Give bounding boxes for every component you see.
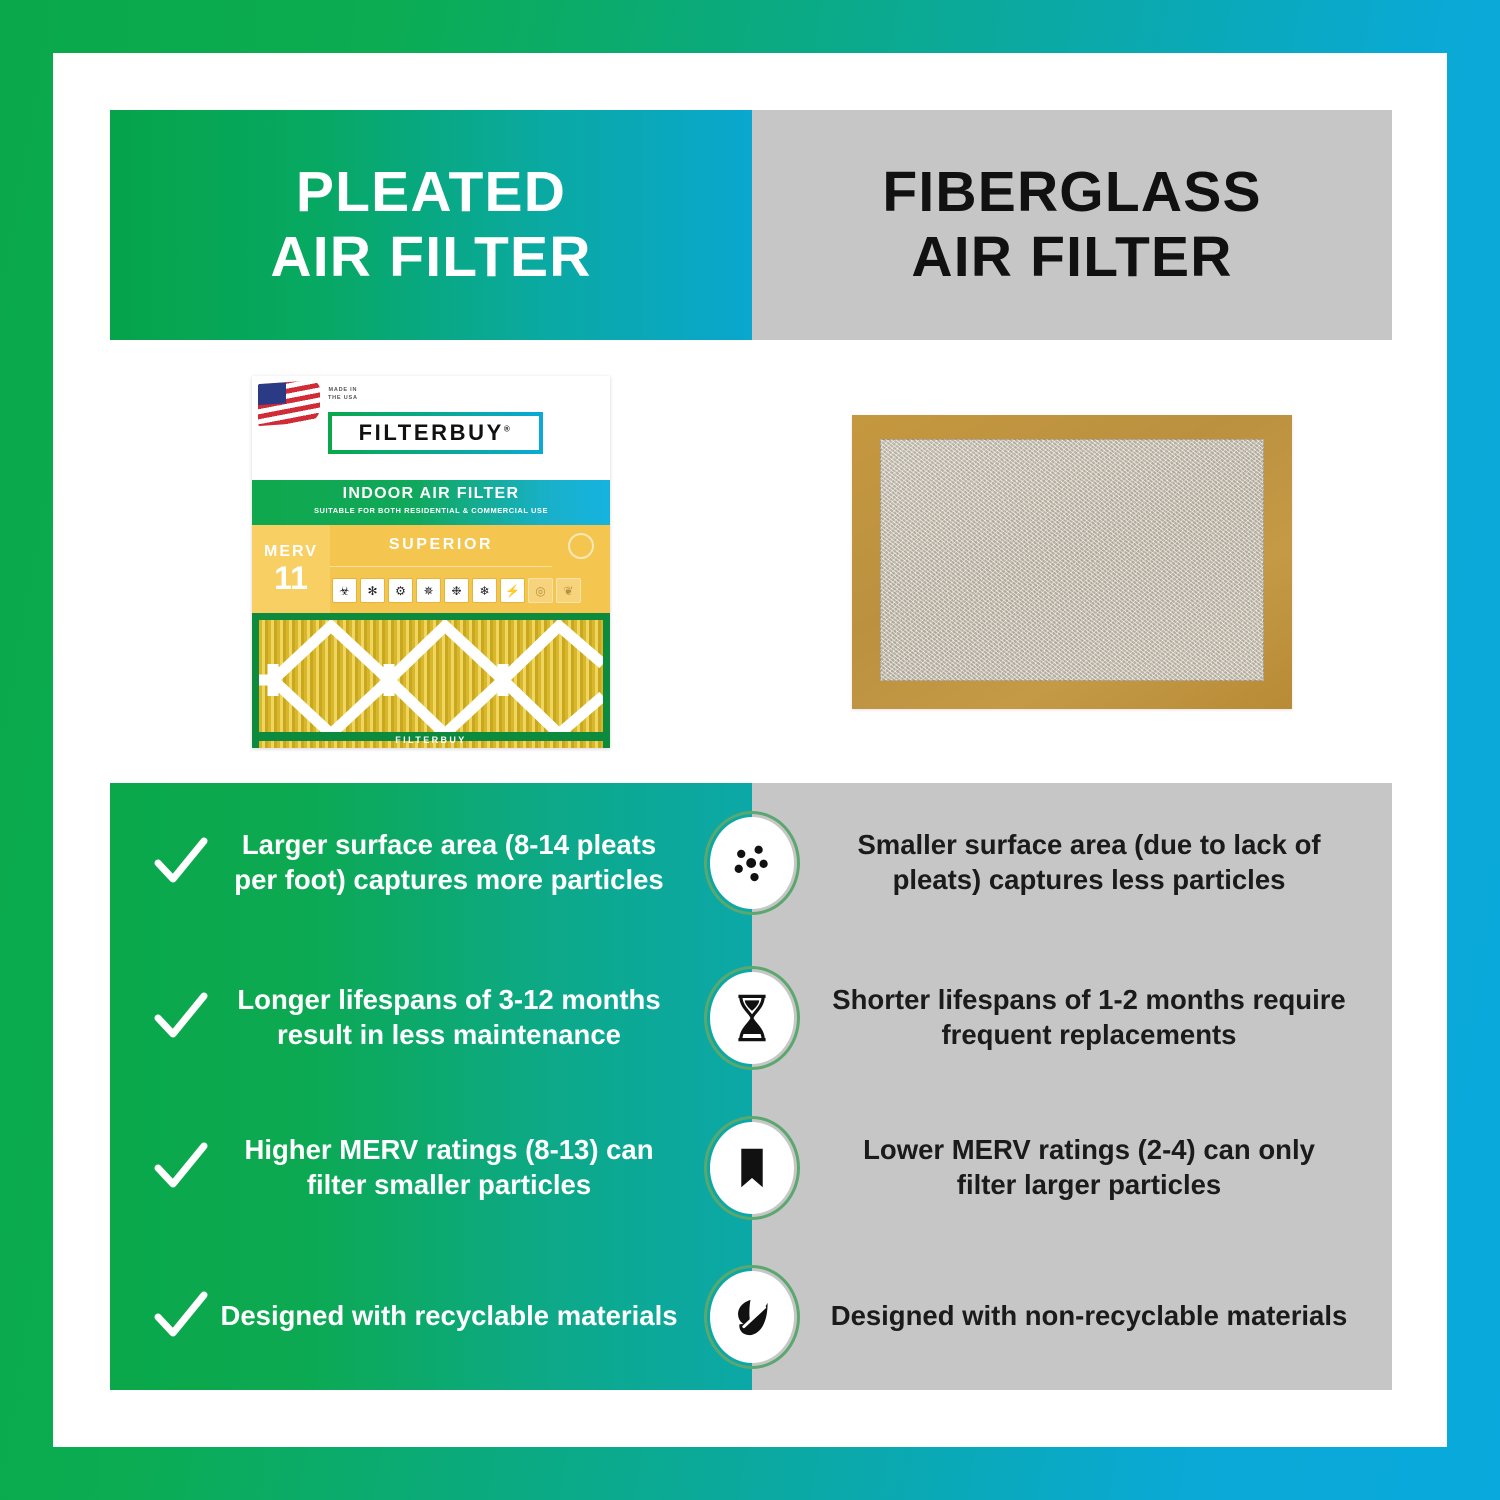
row-2-right-text: Shorter lifespans of 1-2 months require … <box>752 983 1392 1052</box>
comparison-row: Higher MERV ratings (8-13) can filter sm… <box>110 1093 1392 1243</box>
infographic-canvas: PLEATED AIR FILTER FIBERGLASS AIR FILTER… <box>110 110 1392 1390</box>
pleat-field: FILTERBUY <box>259 620 603 748</box>
hourglass-icon <box>710 972 794 1064</box>
check-icon <box>148 1285 212 1349</box>
check-icon <box>148 831 212 895</box>
row-3-right-text: Lower MERV ratings (2-4) can only filter… <box>752 1133 1392 1202</box>
row-1-left: Larger surface area (8-14 pleats per foo… <box>110 828 752 897</box>
filterbuy-logo-text: FILTERBUY® <box>359 420 513 446</box>
banner-line2: SUITABLE FOR BOTH RESIDENTIAL & COMMERCI… <box>252 506 610 515</box>
comparison-row: Longer lifespans of 3-12 months result i… <box>110 943 1392 1093</box>
header-fiberglass-line2: AIR FILTER <box>882 225 1261 290</box>
header-pleated-title: PLEATED AIR FILTER <box>270 160 591 290</box>
fiberglass-media <box>880 439 1264 681</box>
header-fiberglass: FIBERGLASS AIR FILTER <box>752 110 1392 340</box>
leaf-glyph-icon <box>726 1291 778 1343</box>
bookmark-glyph-icon <box>727 1143 777 1193</box>
fiberglass-filter-product-image <box>852 415 1292 709</box>
merv-value: 11 <box>274 563 308 593</box>
row-2-left-text: Longer lifespans of 3-12 months result i… <box>218 983 680 1052</box>
row-1-icon-wrap <box>704 811 800 915</box>
row-4-right-text: Designed with non-recyclable materials <box>752 1299 1392 1334</box>
seal-circle-icon <box>568 533 594 559</box>
capability-tile-smoke-icon: ⚡ <box>500 578 525 603</box>
support-wire-mesh-icon <box>259 620 603 741</box>
capability-tile-row: ☣ ✻ ⚙ ✵ ❉ ❄ ⚡ ◎ ❦ <box>332 571 604 611</box>
row-3-left-text: Higher MERV ratings (8-13) can filter sm… <box>218 1133 680 1202</box>
pleated-footer-brand: FILTERBUY <box>259 735 603 745</box>
pleated-product-cell: MADE IN THE USA FILTERBUY® INDOOR AIR FI… <box>110 340 752 783</box>
banner-line1: INDOOR AIR FILTER <box>252 485 610 503</box>
comparison-row: Designed with recyclable materials Desig… <box>110 1243 1392 1390</box>
row-2-icon-wrap <box>704 966 800 1070</box>
capability-tile-gear-icon: ⚙ <box>388 578 413 603</box>
tier-label: SUPERIOR <box>330 525 552 567</box>
pleated-box-banner: INDOOR AIR FILTER SUITABLE FOR BOTH RESI… <box>252 480 610 525</box>
row-1-right-text: Smaller surface area (due to lack of ple… <box>752 828 1392 897</box>
header-pleated: PLEATED AIR FILTER <box>110 110 752 340</box>
fiberglass-product-cell <box>752 340 1392 783</box>
usa-flag-icon <box>258 379 320 425</box>
capability-tile-voc-icon: ❦ <box>556 578 581 603</box>
capability-tile-insect-icon: ✻ <box>360 578 385 603</box>
particles-glyph-icon <box>723 834 781 892</box>
leaf-icon <box>710 1271 794 1363</box>
comparison-row: Larger surface area (8-14 pleats per foo… <box>110 783 1392 943</box>
capability-tile-dust-icon: ☣ <box>332 578 357 603</box>
pleated-media-area: FILTERBUY <box>252 613 610 748</box>
header-fiberglass-line1: FIBERGLASS <box>882 160 1261 225</box>
header-pleated-line1: PLEATED <box>270 160 591 225</box>
particles-icon <box>710 817 794 909</box>
made-in-usa-label: MADE IN THE USA <box>328 386 358 403</box>
row-4-left: Designed with recyclable materials <box>110 1285 752 1349</box>
pleated-filter-product-image: MADE IN THE USA FILTERBUY® INDOOR AIR FI… <box>252 376 610 748</box>
row-2-left: Longer lifespans of 3-12 months result i… <box>110 983 752 1052</box>
comparison-section: Larger surface area (8-14 pleats per foo… <box>110 783 1392 1390</box>
check-icon <box>148 986 212 1050</box>
pleated-box-spec-panel: MERV 11 SUPERIOR ☣ ✻ ⚙ ✵ ❉ ❄ ⚡ <box>252 525 610 613</box>
row-4-left-text: Designed with recyclable materials <box>218 1299 680 1334</box>
made-in-line1: MADE IN <box>328 386 358 394</box>
merv-badge: MERV 11 <box>252 525 330 613</box>
certification-seal-icon <box>552 525 610 567</box>
header-pleated-line2: AIR FILTER <box>270 225 591 290</box>
merv-label: MERV <box>264 543 318 561</box>
row-3-left: Higher MERV ratings (8-13) can filter sm… <box>110 1133 752 1202</box>
capability-tile-odor-icon: ◎ <box>528 578 553 603</box>
bookmark-icon <box>710 1122 794 1214</box>
filterbuy-logo: FILTERBUY® <box>328 412 543 454</box>
capability-tile-pet-dander-icon: ❄ <box>472 578 497 603</box>
capability-tile-pollen-icon: ✵ <box>416 578 441 603</box>
header-fiberglass-title: FIBERGLASS AIR FILTER <box>882 160 1261 290</box>
check-icon <box>148 1136 212 1200</box>
product-images-band: MADE IN THE USA FILTERBUY® INDOOR AIR FI… <box>110 340 1392 783</box>
made-in-line2: THE USA <box>328 394 358 402</box>
row-3-icon-wrap <box>704 1116 800 1220</box>
row-1-left-text: Larger surface area (8-14 pleats per foo… <box>218 828 680 897</box>
hourglass-glyph-icon <box>724 990 780 1046</box>
header-bar: PLEATED AIR FILTER FIBERGLASS AIR FILTER <box>110 110 1392 340</box>
row-4-icon-wrap <box>704 1265 800 1369</box>
capability-tile-bacteria-icon: ❉ <box>444 578 469 603</box>
